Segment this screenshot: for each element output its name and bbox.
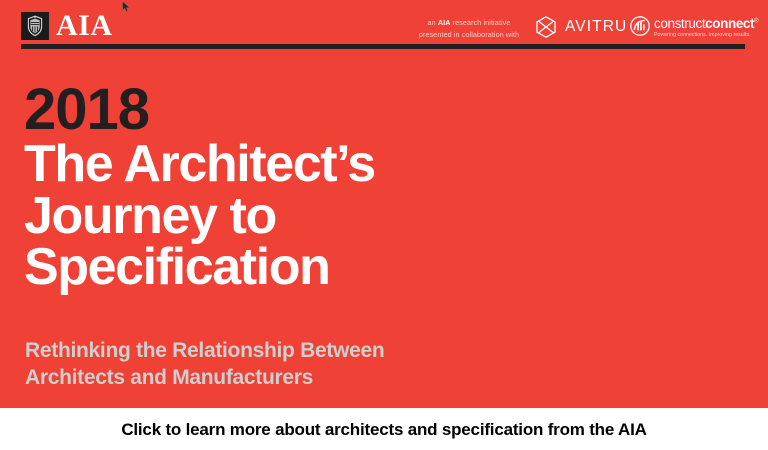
title-line-1: The Architect’s [24,139,544,190]
subtitle-line-1: Rethinking the Relationship Between [25,338,545,365]
hero-panel: AIA an AIA research initiative presented… [0,0,768,408]
initiative-line-1: an AIA research initiative [410,17,528,29]
constructconnect-wordmark: constructconnect® [654,17,758,31]
header-divider [21,44,745,49]
headline-block: 2018 The Architect’s Journey to Specific… [24,82,544,294]
cc-word-light: construct [654,16,705,31]
cta-label[interactable]: Click to learn more about architects and… [121,421,646,438]
page-subtitle: Rethinking the Relationship Between Arch… [25,338,545,392]
initiative-brand: AIA [438,18,451,27]
cta-bar[interactable]: Click to learn more about architects and… [0,408,768,450]
avitru-logo[interactable]: AVITRU [534,15,627,39]
initiative-suffix: research initiative [451,18,511,27]
aia-eagle-seal-icon [21,12,49,40]
constructconnect-tagline: Powering connections. Improving results. [654,33,758,38]
constructconnect-circle-icon [630,16,650,36]
aia-wordmark: AIA [56,11,113,41]
avitru-hexagon-icon [534,15,558,39]
report-year: 2018 [24,82,544,137]
subtitle-line-2: Architects and Manufacturers [25,365,545,392]
constructconnect-logo[interactable]: constructconnect® Powering connections. … [630,16,758,38]
constructconnect-text: constructconnect® Powering connections. … [654,16,758,38]
aia-logo[interactable]: AIA [21,11,113,41]
page-title: The Architect’s Journey to Specification [24,139,544,293]
research-initiative-text: an AIA research initiative presented in … [410,17,528,41]
header-bar: AIA an AIA research initiative presented… [0,0,768,44]
cc-trademark: ® [754,19,758,25]
title-line-3: Specification [24,242,544,293]
cc-word-bold: connect [705,16,754,31]
avitru-wordmark: AVITRU [565,19,627,35]
initiative-line-2: presented in collaboration with [410,29,528,41]
initiative-prefix: an [428,18,438,27]
title-line-2: Journey to [24,191,544,242]
presentation-slide: AIA an AIA research initiative presented… [0,0,768,450]
